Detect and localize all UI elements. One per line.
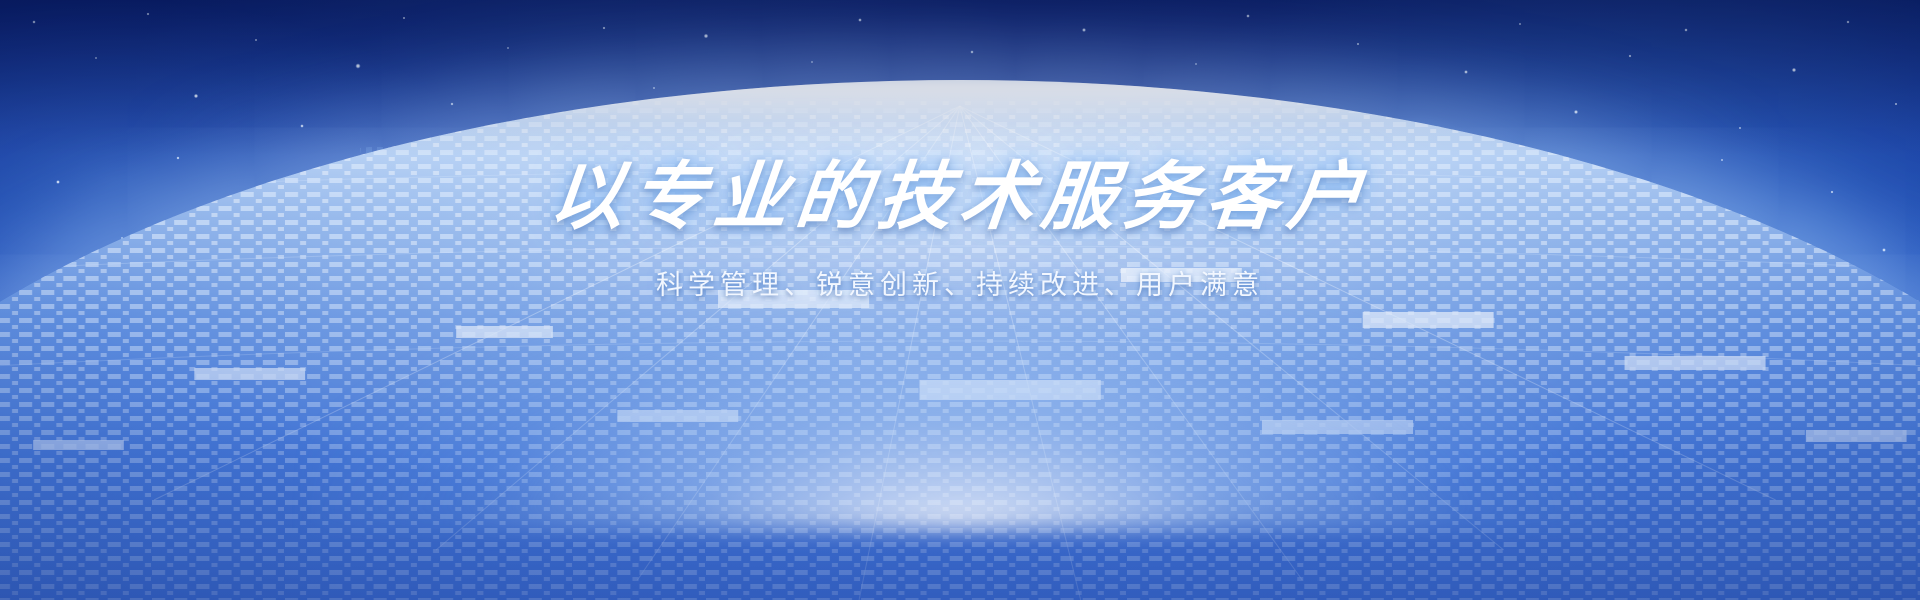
banner-subheadline: 科学管理、锐意创新、持续改进、用户满意: [0, 272, 1920, 299]
banner-headline: 以专业的技术服务客户: [0, 160, 1920, 234]
banner-copy: 以专业的技术服务客户 科学管理、锐意创新、持续改进、用户满意: [0, 160, 1920, 299]
hero-banner: 以专业的技术服务客户 科学管理、锐意创新、持续改进、用户满意: [0, 0, 1920, 600]
